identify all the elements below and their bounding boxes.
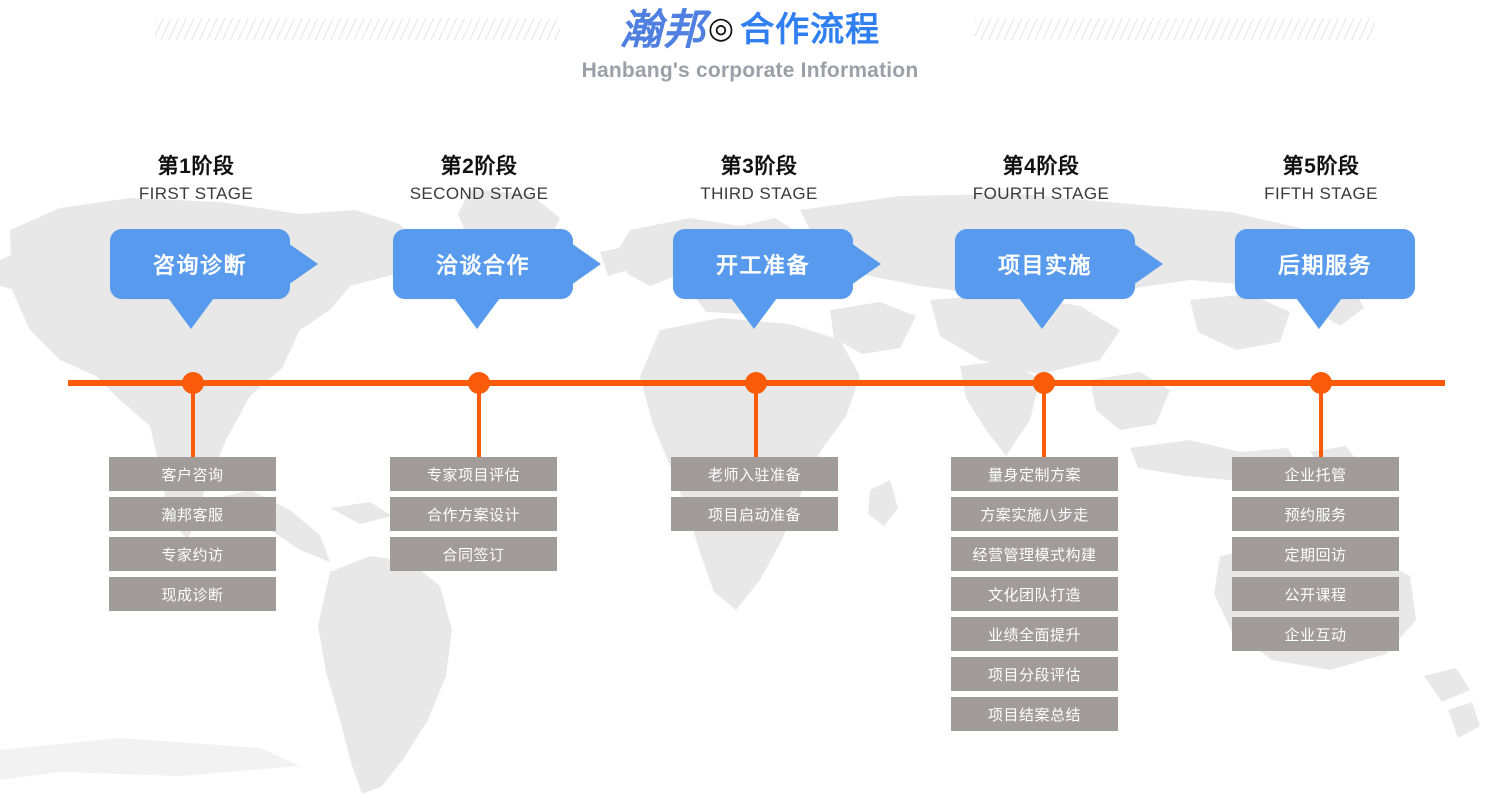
- stage-5-heading: 第5阶段 FIFTH STAGE: [1180, 155, 1462, 204]
- item-label: 合同签订: [442, 544, 504, 565]
- stage-1-title-en: FIRST STAGE: [55, 184, 337, 204]
- stage-2-callout-arrow-icon: [571, 243, 601, 285]
- stage-1-callout-arrow-icon: [288, 243, 318, 285]
- list-item[interactable]: 老师入驻准备: [671, 457, 838, 491]
- stage-5-callout-tail-icon: [1296, 298, 1342, 329]
- list-item[interactable]: 专家项目评估: [390, 457, 557, 491]
- brand-logo-text: 瀚邦: [620, 5, 706, 54]
- list-item[interactable]: 公开课程: [1232, 577, 1399, 611]
- list-item[interactable]: 项目结案总结: [951, 697, 1118, 731]
- item-label: 专家约访: [161, 544, 223, 565]
- list-item[interactable]: 企业托管: [1232, 457, 1399, 491]
- stage-4-callout-label: 项目实施: [998, 248, 1092, 280]
- item-label: 公开课程: [1284, 584, 1346, 605]
- page-header: 瀚邦◎合作流程 Hanbang's corporate Information: [0, 0, 1500, 110]
- item-label: 量身定制方案: [988, 464, 1081, 485]
- stage-4-callout-wrap: 项目实施: [900, 229, 1182, 339]
- list-item[interactable]: 方案实施八步走: [951, 497, 1118, 531]
- item-label: 项目结案总结: [988, 704, 1081, 725]
- stage-1-title-cn: 第1阶段: [55, 155, 337, 179]
- stage-3-title-en: THIRD STAGE: [618, 184, 900, 204]
- stage-2-callout-tail-icon: [454, 298, 500, 329]
- stage-2: 第2阶段 SECOND STAGE 洽谈合作: [338, 155, 620, 339]
- item-label: 项目分段评估: [988, 664, 1081, 685]
- stage-2-heading: 第2阶段 SECOND STAGE: [338, 155, 620, 204]
- item-label: 经营管理模式构建: [972, 544, 1096, 565]
- stage-5: 第5阶段 FIFTH STAGE 后期服务: [1180, 155, 1462, 339]
- stage-4-callout[interactable]: 项目实施: [955, 229, 1135, 299]
- brand-mark-icon: ◎: [708, 14, 734, 44]
- stage-5-title-cn: 第5阶段: [1180, 155, 1462, 179]
- stage-1-callout-tail-icon: [168, 298, 214, 329]
- item-label: 业绩全面提升: [988, 624, 1081, 645]
- stage-4-items: 量身定制方案 方案实施八步走 经营管理模式构建 文化团队打造 业绩全面提升 项目…: [951, 457, 1118, 737]
- stage-2-title-cn: 第2阶段: [338, 155, 620, 179]
- stage-2-title-en: SECOND STAGE: [338, 184, 620, 204]
- stage-4-heading: 第4阶段 FOURTH STAGE: [900, 155, 1182, 204]
- stage-3-callout-label: 开工准备: [716, 248, 810, 280]
- item-label: 企业托管: [1284, 464, 1346, 485]
- item-label: 瀚邦客服: [161, 504, 223, 525]
- stage-2-callout[interactable]: 洽谈合作: [393, 229, 573, 299]
- item-label: 合作方案设计: [427, 504, 520, 525]
- stage-3-title-cn: 第3阶段: [618, 155, 900, 179]
- stage-1-callout-label: 咨询诊断: [153, 248, 247, 280]
- list-item[interactable]: 项目启动准备: [671, 497, 838, 531]
- stage-5-callout[interactable]: 后期服务: [1235, 229, 1415, 299]
- list-item[interactable]: 定期回访: [1232, 537, 1399, 571]
- stage-1-heading: 第1阶段 FIRST STAGE: [55, 155, 337, 204]
- stage-4-callout-tail-icon: [1019, 298, 1065, 329]
- stage-3: 第3阶段 THIRD STAGE 开工准备: [618, 155, 900, 339]
- list-item[interactable]: 企业互动: [1232, 617, 1399, 651]
- stage-4-title-en: FOURTH STAGE: [900, 184, 1182, 204]
- item-label: 客户咨询: [161, 464, 223, 485]
- stage-3-items: 老师入驻准备 项目启动准备: [671, 457, 838, 537]
- stage-3-callout-wrap: 开工准备: [618, 229, 900, 339]
- stage-3-heading: 第3阶段 THIRD STAGE: [618, 155, 900, 204]
- stage-1: 第1阶段 FIRST STAGE 咨询诊断: [55, 155, 337, 339]
- stage-1-items: 客户咨询 瀚邦客服 专家约访 现成诊断: [109, 457, 276, 617]
- list-item[interactable]: 瀚邦客服: [109, 497, 276, 531]
- stage-4: 第4阶段 FOURTH STAGE 项目实施: [900, 155, 1182, 339]
- stage-3-callout-arrow-icon: [851, 243, 881, 285]
- title-block: 瀚邦◎合作流程 Hanbang's corporate Information: [0, 0, 1500, 83]
- stage-5-callout-wrap: 后期服务: [1180, 229, 1462, 339]
- item-label: 定期回访: [1284, 544, 1346, 565]
- item-label: 现成诊断: [161, 584, 223, 605]
- list-item[interactable]: 文化团队打造: [951, 577, 1118, 611]
- item-label: 企业互动: [1284, 624, 1346, 645]
- list-item[interactable]: 量身定制方案: [951, 457, 1118, 491]
- list-item[interactable]: 现成诊断: [109, 577, 276, 611]
- stage-4-callout-arrow-icon: [1133, 243, 1163, 285]
- stage-5-title-en: FIFTH STAGE: [1180, 184, 1462, 204]
- item-label: 预约服务: [1284, 504, 1346, 525]
- list-item[interactable]: 合同签订: [390, 537, 557, 571]
- list-item[interactable]: 专家约访: [109, 537, 276, 571]
- item-label: 方案实施八步走: [980, 504, 1089, 525]
- page-subtitle: Hanbang's corporate Information: [0, 59, 1500, 83]
- stage-container: 第1阶段 FIRST STAGE 咨询诊断 客户咨询 瀚邦客服 专家约访 现成诊…: [0, 0, 1500, 795]
- page-title: 合作流程: [740, 11, 880, 49]
- logo-line: 瀚邦◎合作流程: [0, 0, 1500, 51]
- stage-2-callout-wrap: 洽谈合作: [338, 229, 620, 339]
- stage-5-callout-label: 后期服务: [1278, 248, 1372, 280]
- item-label: 项目启动准备: [708, 504, 801, 525]
- stage-2-items: 专家项目评估 合作方案设计 合同签订: [390, 457, 557, 577]
- list-item[interactable]: 合作方案设计: [390, 497, 557, 531]
- item-label: 专家项目评估: [427, 464, 520, 485]
- stage-5-items: 企业托管 预约服务 定期回访 公开课程 企业互动: [1232, 457, 1399, 657]
- list-item[interactable]: 项目分段评估: [951, 657, 1118, 691]
- stage-3-callout[interactable]: 开工准备: [673, 229, 853, 299]
- stage-3-callout-tail-icon: [731, 298, 777, 329]
- item-label: 老师入驻准备: [708, 464, 801, 485]
- stage-1-callout-wrap: 咨询诊断: [55, 229, 337, 339]
- list-item[interactable]: 预约服务: [1232, 497, 1399, 531]
- list-item[interactable]: 业绩全面提升: [951, 617, 1118, 651]
- list-item[interactable]: 客户咨询: [109, 457, 276, 491]
- stage-1-callout[interactable]: 咨询诊断: [110, 229, 290, 299]
- stage-4-title-cn: 第4阶段: [900, 155, 1182, 179]
- stage-2-callout-label: 洽谈合作: [436, 248, 530, 280]
- list-item[interactable]: 经营管理模式构建: [951, 537, 1118, 571]
- item-label: 文化团队打造: [988, 584, 1081, 605]
